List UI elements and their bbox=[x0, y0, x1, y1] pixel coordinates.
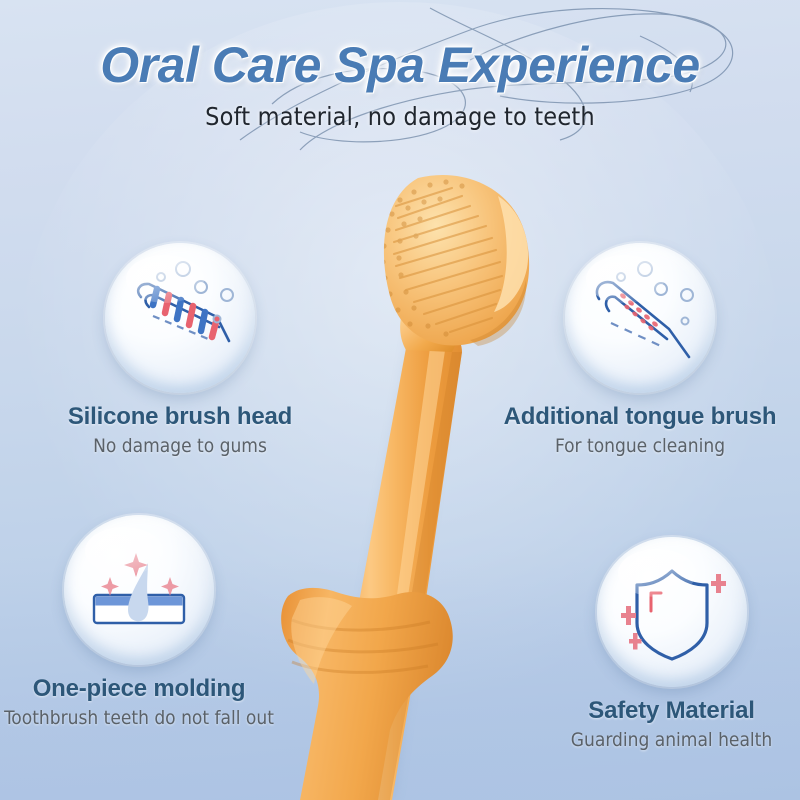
product-feature-poster: Oral Care Spa Experience Soft material, … bbox=[0, 0, 800, 800]
tongue-brush-icon bbox=[565, 243, 715, 393]
bristle-tips bbox=[380, 179, 464, 336]
feature-subtitle: Toothbrush teeth do not fall out bbox=[0, 707, 284, 729]
feature-icon-bubble bbox=[64, 515, 214, 665]
grip-ridges bbox=[288, 620, 438, 672]
one-piece-bristle-root-icon bbox=[64, 515, 214, 665]
feature-subtitle: No damage to gums bbox=[40, 435, 320, 457]
feature-subtitle: For tongue cleaning bbox=[487, 435, 793, 457]
shield-icon bbox=[597, 537, 747, 687]
feature-subtitle: Guarding animal health bbox=[543, 729, 800, 751]
page-title: Oral Care Spa Experience bbox=[0, 36, 800, 94]
feature-title: Safety Material bbox=[543, 697, 800, 725]
feature-additional-tongue-brush: Additional tongue brush For tongue clean… bbox=[487, 243, 793, 457]
feature-title: Silicone brush head bbox=[40, 403, 320, 431]
product-neck bbox=[400, 296, 459, 352]
feature-title: One-piece molding bbox=[0, 675, 284, 703]
header: Oral Care Spa Experience Soft material, … bbox=[0, 0, 800, 160]
feature-title: Additional tongue brush bbox=[487, 403, 793, 431]
handle-edge-shadow bbox=[370, 352, 462, 800]
tongue-ridges bbox=[619, 292, 659, 331]
toothbrush-bristles-icon bbox=[105, 243, 255, 393]
handle-highlight bbox=[356, 340, 446, 760]
feature-icon-bubble bbox=[597, 537, 747, 687]
product-handle bbox=[318, 330, 462, 800]
feature-safety-material: Safety Material Guarding animal health bbox=[543, 537, 800, 751]
page-subtitle: Soft material, no damage to teeth bbox=[0, 102, 800, 131]
product-grip bbox=[281, 588, 453, 800]
feature-silicone-brush-head: Silicone brush head No damage to gums bbox=[40, 243, 320, 457]
feature-one-piece-molding: One-piece molding Toothbrush teeth do no… bbox=[0, 515, 284, 729]
feature-icon-bubble bbox=[105, 243, 255, 393]
feature-icon-bubble bbox=[565, 243, 715, 393]
brush-bristles bbox=[380, 179, 502, 336]
grip-highlight bbox=[291, 597, 352, 684]
product-shadow bbox=[330, 200, 470, 800]
